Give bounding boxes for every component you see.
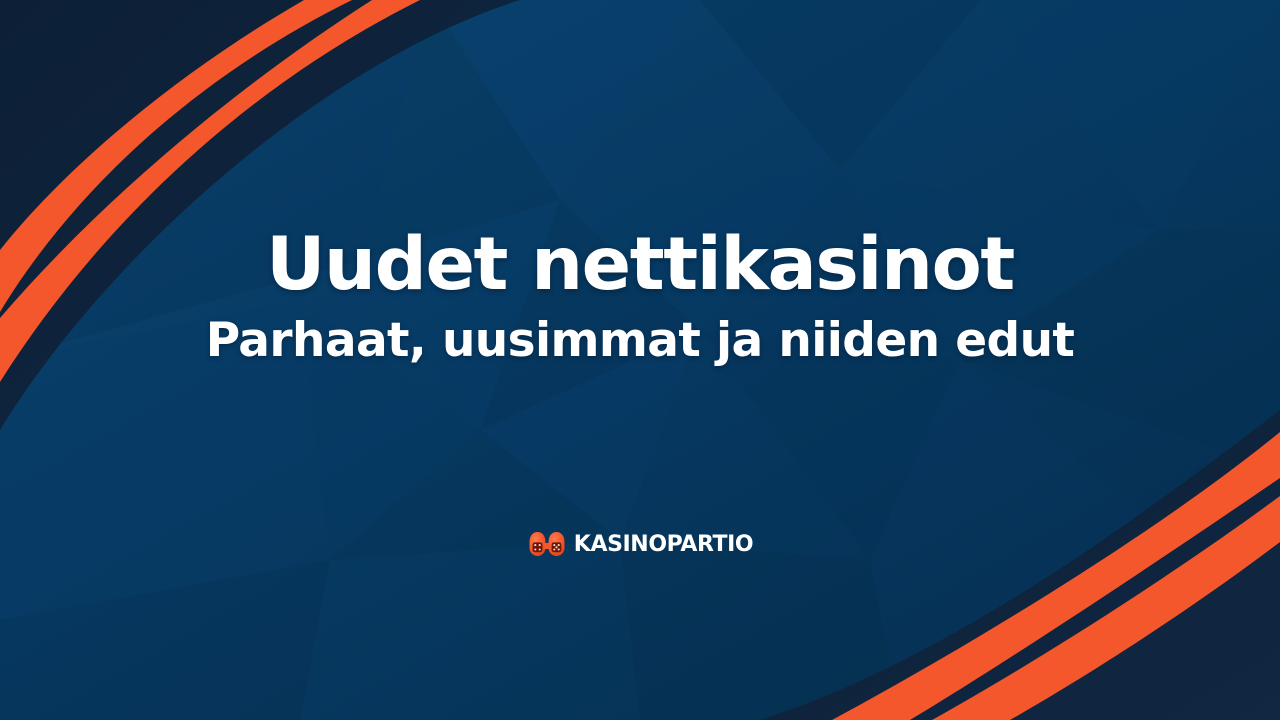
banner-content: Uudet nettikasinot Parhaat, uusimmat ja … <box>0 0 1280 720</box>
brand-logo[interactable]: KASINOPARTIO <box>0 531 1280 559</box>
title-block: Uudet nettikasinot Parhaat, uusimmat ja … <box>0 228 1280 364</box>
page-subtitle: Parhaat, uusimmat ja niiden edut <box>0 317 1280 364</box>
hero-banner: Uudet nettikasinot Parhaat, uusimmat ja … <box>0 0 1280 720</box>
binoculars-icon <box>527 531 567 559</box>
page-title: Uudet nettikasinot <box>0 228 1280 301</box>
logo-wordmark: KASINOPARTIO <box>574 534 753 556</box>
